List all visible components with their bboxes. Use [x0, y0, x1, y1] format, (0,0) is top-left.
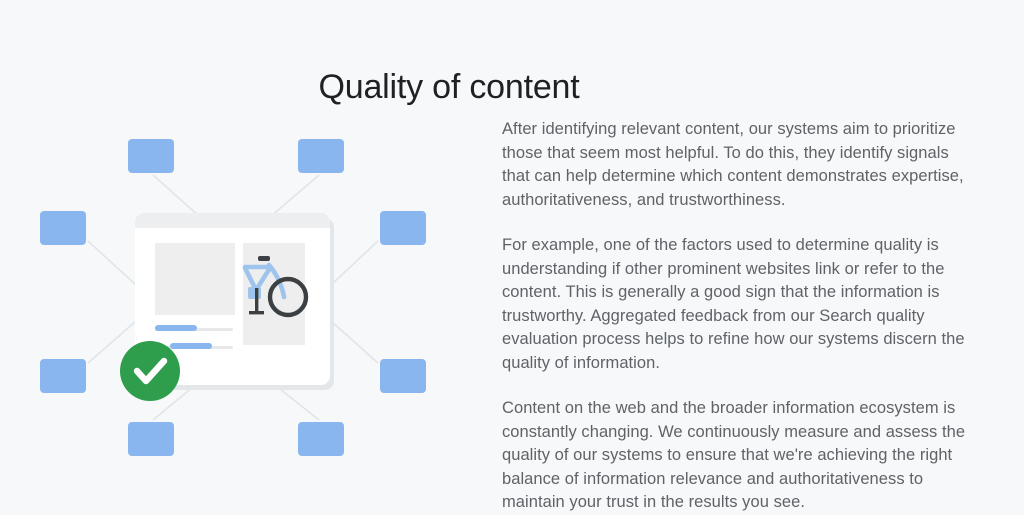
link-top-right — [270, 175, 319, 217]
paragraph-2: For example, one of the factors used to … — [502, 234, 980, 375]
link-top-left — [153, 175, 200, 217]
node-top-right-square — [298, 139, 344, 173]
quality-of-content-page: Quality of content — [0, 0, 1024, 515]
node-mid-right-low-square — [380, 359, 426, 393]
node-mid-left-up-square — [40, 211, 86, 245]
page-title: Quality of content — [0, 65, 898, 109]
card-text-line-2-blue — [170, 343, 212, 349]
link-mid-right-up — [331, 241, 378, 285]
card-thumbnail-placeholder — [155, 243, 235, 315]
card-text-line-1-blue — [155, 325, 197, 331]
check-badge-circle — [120, 341, 180, 401]
paragraph-1: After identifying relevant content, our … — [502, 118, 980, 212]
link-mid-left-up — [88, 241, 136, 285]
illustration-canvas — [20, 125, 440, 470]
node-bottom-right-square — [298, 422, 344, 456]
bicycle-saddle — [258, 256, 270, 261]
node-top-left-square — [128, 139, 174, 173]
bicycle-post-foot — [249, 311, 264, 314]
text-column: After identifying relevant content, our … — [502, 118, 980, 515]
verified-check-badge — [120, 341, 180, 401]
paragraph-3: Content on the web and the broader infor… — [502, 397, 980, 515]
bicycle-crank-block — [248, 287, 261, 299]
card-header-bar — [135, 213, 330, 228]
node-mid-left-low-square — [40, 359, 86, 393]
bicycle-seat-post — [255, 288, 258, 314]
link-mid-right-low — [331, 321, 378, 363]
node-bottom-left-square — [128, 422, 174, 456]
quality-of-content-illustration — [20, 125, 440, 470]
node-mid-right-up-square — [380, 211, 426, 245]
